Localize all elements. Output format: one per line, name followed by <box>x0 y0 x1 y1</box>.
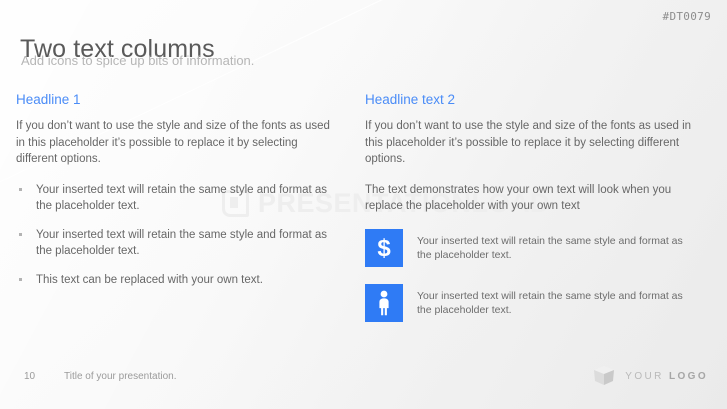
icon-row-label: Your inserted text will retain the same … <box>417 284 695 318</box>
list-item: Your inserted text will retain the same … <box>16 182 341 215</box>
footer-page-number: 10 <box>24 371 35 382</box>
left-column-bullet-list: Your inserted text will retain the same … <box>16 182 341 289</box>
right-column-paragraph-2: The text demonstrates how your own text … <box>365 182 695 215</box>
bullet-dot-icon <box>19 233 22 236</box>
right-column: Headline text 2 If you don’t want to use… <box>365 92 695 339</box>
list-item-label: Your inserted text will retain the same … <box>36 184 327 213</box>
logo-placeholder: YOUR LOGO <box>592 364 708 388</box>
icon-row: Your inserted text will retain the same … <box>365 284 695 322</box>
page-subtitle: Add icons to spice up bits of informatio… <box>21 53 254 68</box>
left-column: Headline 1 If you don’t want to use the … <box>16 92 341 300</box>
bullet-dot-icon <box>19 188 22 191</box>
list-item-label: This text can be replaced with your own … <box>36 274 263 286</box>
logo-text: YOUR LOGO <box>625 371 708 382</box>
right-column-paragraph-1: If you don’t want to use the style and s… <box>365 118 695 168</box>
document-id: #DT0079 <box>663 10 711 23</box>
person-icon <box>376 290 392 316</box>
slide-canvas: PRESENTATIONLOAD #DT0079 Two text column… <box>0 0 727 409</box>
icon-row-list: $ Your inserted text will retain the sam… <box>365 229 695 322</box>
bullet-dot-icon <box>19 278 22 281</box>
icon-row-label: Your inserted text will retain the same … <box>417 229 695 263</box>
dollar-sign-icon-tile: $ <box>365 229 403 267</box>
icon-row: $ Your inserted text will retain the sam… <box>365 229 695 267</box>
footer-presentation-title: Title of your presentation. <box>64 371 176 382</box>
logo-word-your: YOUR <box>625 371 664 382</box>
left-column-paragraph: If you don’t want to use the style and s… <box>16 118 341 168</box>
right-column-headline: Headline text 2 <box>365 92 695 107</box>
cube-logo-icon <box>592 364 616 388</box>
left-column-headline: Headline 1 <box>16 92 341 107</box>
dollar-sign-icon: $ <box>373 235 395 261</box>
list-item: Your inserted text will retain the same … <box>16 227 341 260</box>
list-item: This text can be replaced with your own … <box>16 272 341 289</box>
svg-text:$: $ <box>377 235 391 261</box>
list-item-label: Your inserted text will retain the same … <box>36 229 327 258</box>
logo-word-logo: LOGO <box>669 371 708 382</box>
person-icon-tile <box>365 284 403 322</box>
